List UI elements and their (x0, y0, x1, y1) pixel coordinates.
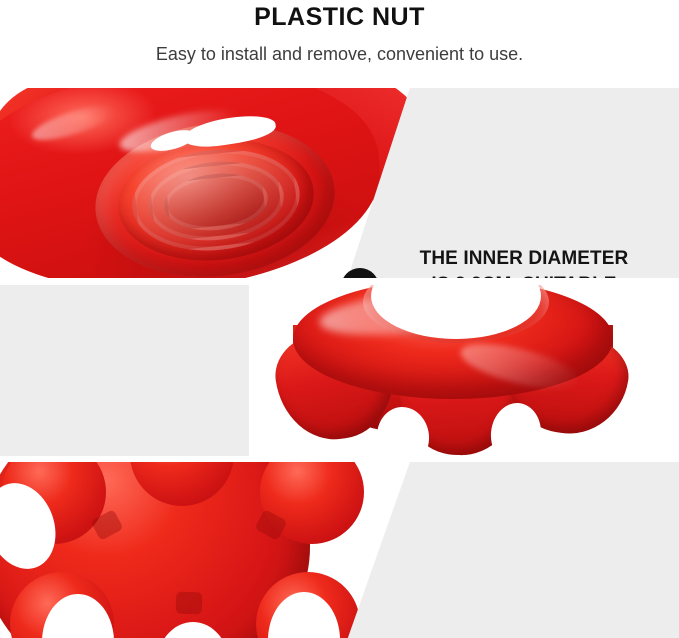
page-subtitle: Easy to install and remove, convenient t… (0, 32, 679, 66)
feature-row-3: IT WILL NOT ADD EXTRA WEIGHT FOR YOUR DU… (0, 462, 679, 638)
nut-assembly-2 (259, 285, 649, 456)
header: PLASTIC NUT Easy to install and remove, … (0, 0, 679, 88)
product-infographic: PLASTIC NUT Easy to install and remove, … (0, 0, 679, 638)
nut-grip-mark-3 (176, 592, 203, 615)
feature-row-1: THE INNER DIAMETER IS 2.2CM, SUITABLE FO… (0, 88, 679, 278)
product-photo-2 (249, 285, 679, 456)
feature-row-2: PE MATERIAL STRONG DURABLE, CAN BE USED … (0, 285, 679, 456)
page-title: PLASTIC NUT (0, 0, 679, 32)
feature-text-1: THE INNER DIAMETER IS 2.2CM, SUITABLE FO… (378, 246, 670, 278)
nut-assembly-3 (0, 462, 400, 638)
